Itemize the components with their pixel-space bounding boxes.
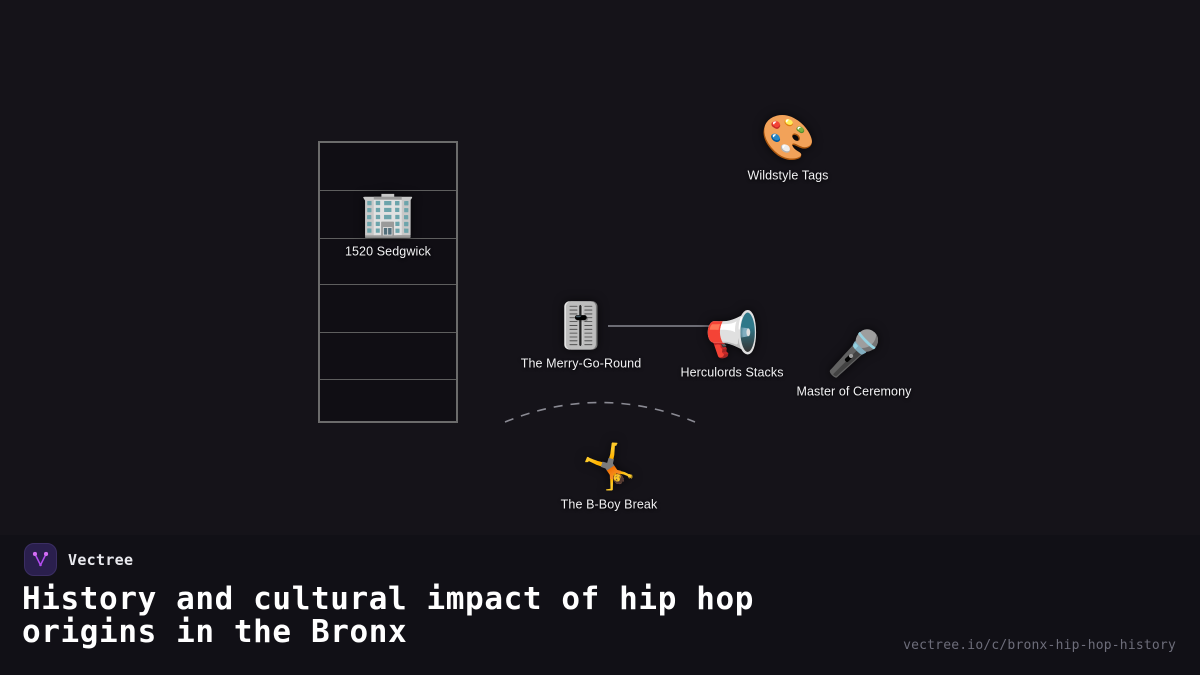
site-url: vectree.io/c/bronx-hip-hop-history bbox=[903, 638, 1176, 653]
app-window: 🏢1520 Sedgwick🎨Wildstyle Tags🎚️The Merry… bbox=[0, 0, 1200, 675]
footer-bar: Vectree History and cultural impact of h… bbox=[0, 535, 1200, 675]
node-label-mc: Master of Ceremony bbox=[796, 385, 911, 399]
node-label-bboy: The B-Boy Break bbox=[561, 498, 658, 512]
node-label-merry-go-round: The Merry-Go-Round bbox=[521, 357, 642, 371]
lattice-divider-3 bbox=[320, 284, 456, 285]
brand[interactable]: Vectree bbox=[24, 543, 133, 576]
page-title: History and cultural impact of hip hop o… bbox=[22, 583, 882, 649]
office-building-icon: 🏢 bbox=[361, 190, 416, 240]
node-mc[interactable]: 🎤Master of Ceremony bbox=[759, 330, 949, 399]
microphone-icon: 🎤 bbox=[827, 330, 882, 380]
loudspeaker-icon: 📢 bbox=[705, 311, 760, 361]
node-label-sedgwick: 1520 Sedgwick bbox=[345, 245, 431, 259]
level-slider-icon: 🎚️ bbox=[554, 302, 609, 352]
lattice-divider-4 bbox=[320, 332, 456, 333]
node-sedgwick[interactable]: 🏢1520 Sedgwick bbox=[293, 190, 483, 259]
node-wildstyle[interactable]: 🎨Wildstyle Tags bbox=[693, 114, 883, 183]
building-lattice bbox=[318, 141, 458, 423]
edge-arc-dashed bbox=[505, 403, 695, 423]
brand-name: Vectree bbox=[68, 551, 133, 569]
node-label-wildstyle: Wildstyle Tags bbox=[747, 169, 828, 183]
vectree-logo-icon bbox=[24, 543, 57, 576]
cartwheel-person-icon: 🤸 bbox=[582, 443, 637, 493]
graph-canvas[interactable]: 🏢1520 Sedgwick🎨Wildstyle Tags🎚️The Merry… bbox=[0, 0, 1200, 535]
lattice-divider-5 bbox=[320, 379, 456, 380]
artist-palette-icon: 🎨 bbox=[761, 114, 816, 164]
node-bboy[interactable]: 🤸The B-Boy Break bbox=[514, 443, 704, 512]
